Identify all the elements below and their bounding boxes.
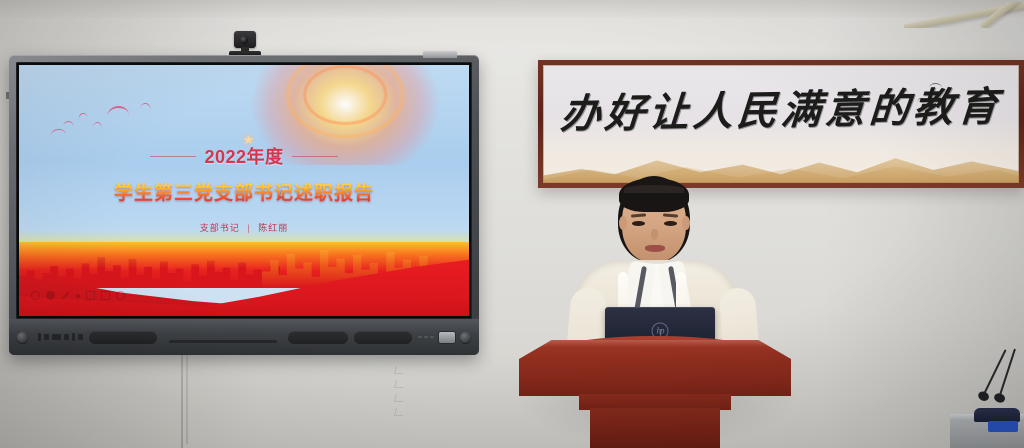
display-control-bar[interactable]: · [9, 319, 479, 355]
ear-left [619, 216, 627, 230]
brand-name: · [222, 332, 224, 337]
vent-slot [169, 340, 277, 343]
eye-right [664, 221, 677, 226]
rule-left [150, 156, 196, 157]
presentation-toolbar[interactable] [31, 291, 125, 300]
hair-front [619, 178, 689, 212]
banner-mountains-front [543, 129, 1019, 183]
slide-title: 学生第三党支部书记述职报告 [19, 178, 469, 205]
record-icon[interactable] [46, 291, 55, 300]
speaker-grille-left [89, 331, 157, 344]
webcam-icon [231, 31, 259, 57]
image-icon[interactable] [86, 291, 95, 300]
wall-calligraphy-banner: 办好让人民满意的教育 [538, 60, 1024, 188]
banner-paper: 办好让人民满意的教育 [543, 65, 1019, 183]
circle-icon[interactable] [116, 291, 125, 300]
dot-icon[interactable] [76, 294, 80, 298]
ir-panel[interactable] [418, 332, 471, 343]
display-brand-plate: · [163, 332, 282, 343]
lectern [519, 340, 791, 448]
equipment-corner [932, 318, 1024, 448]
ceiling-edge [0, 0, 1024, 18]
eye-left [632, 221, 645, 226]
menu-button[interactable] [460, 332, 471, 343]
port-cluster[interactable] [38, 333, 83, 341]
wall-scuff-marks [392, 362, 418, 446]
slide-year: 2022年度 [204, 143, 283, 169]
note-icon[interactable] [101, 291, 110, 300]
ir-receiver-icon [439, 332, 455, 343]
mouth [645, 245, 665, 252]
display-cable [181, 352, 183, 448]
indicator-dots [418, 336, 434, 338]
lectern-base [590, 408, 721, 448]
speaker-grille-mid [288, 331, 348, 344]
room-scene: ★ 2022年度 学生第三党支部书记述职报告 支部书记 [0, 0, 1024, 448]
birds-graphic [47, 103, 167, 143]
nose [651, 229, 658, 240]
pen-icon[interactable] [61, 291, 70, 300]
lectern-front-panel [519, 340, 791, 396]
presentation-slide[interactable]: ★ 2022年度 学生第三党支部书记述职报告 支部书记 [19, 65, 469, 316]
display-cable-secondary [186, 352, 188, 444]
display-bezel: ★ 2022年度 学生第三党支部书记述职报告 支部书记 [9, 55, 479, 355]
table-device [974, 408, 1020, 422]
smart-display[interactable]: ★ 2022年度 学生第三党支部书记述职报告 支部书记 [9, 55, 479, 355]
table-item-blue [988, 421, 1018, 432]
speaker-grille-right [354, 331, 412, 344]
screen-frame: ★ 2022年度 学生第三党支部书记述职报告 支部书记 [16, 62, 472, 319]
ear-right [682, 216, 690, 230]
headband [624, 185, 684, 193]
rule-right [292, 156, 338, 157]
slide-year-row: 2022年度 [19, 143, 469, 169]
conduit-pipe-icon [904, 2, 1024, 28]
slide-landscape [19, 220, 469, 316]
banner-slogan: 办好让人民满意的教育 [543, 87, 1019, 135]
bezel-top-tab [423, 51, 457, 58]
pointer-icon[interactable] [31, 291, 40, 300]
power-button[interactable] [17, 332, 28, 343]
